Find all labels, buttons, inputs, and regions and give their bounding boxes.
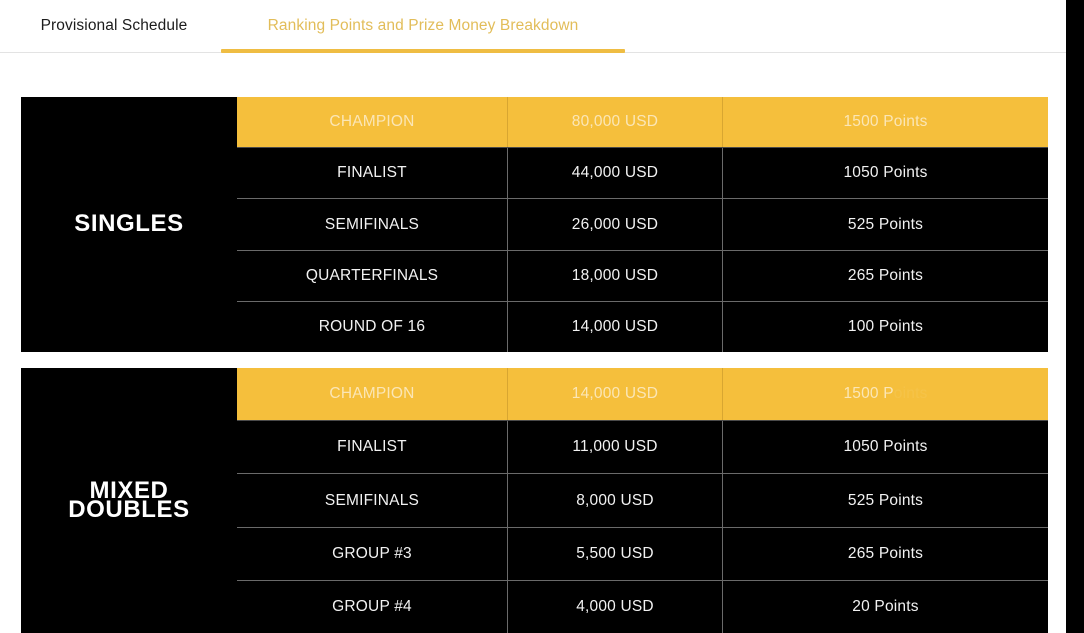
- table-body: SINGLES CHAMPION 80,000 USD 1500 Points …: [21, 97, 1048, 352]
- cell-round: GROUP #4: [237, 581, 507, 633]
- tab-provisional-schedule[interactable]: Provisional Schedule: [10, 0, 218, 52]
- cell-money: 14,000 USD: [507, 368, 722, 420]
- category-cell-mixed-doubles: MIXED DOUBLES: [21, 368, 237, 633]
- table-row[interactable]: CHAMPION 80,000 USD 1500 Points: [237, 97, 1048, 147]
- cell-round: SEMIFINALS: [237, 474, 507, 526]
- cell-points: 1500 Points: [722, 97, 1048, 147]
- cell-round: ROUND OF 16: [237, 302, 507, 352]
- cell-money: 11,000 USD: [507, 421, 722, 473]
- cell-money: 18,000 USD: [507, 251, 722, 301]
- cell-points: 1050 Points: [722, 421, 1048, 473]
- cell-points: 265 Points: [722, 528, 1048, 580]
- prize-table-mixed-doubles: MIXED DOUBLES CHAMPION 14,000 USD 1500 P…: [21, 368, 1048, 633]
- category-label: SINGLES: [74, 215, 184, 234]
- cell-money: 8,000 USD: [507, 474, 722, 526]
- tab-bar: Provisional Schedule Ranking Points and …: [0, 0, 1066, 54]
- category-label: MIXED DOUBLES: [68, 482, 190, 519]
- table-row[interactable]: SEMIFINALS 26,000 USD 525 Points: [237, 198, 1048, 249]
- cell-round: CHAMPION: [237, 368, 507, 420]
- cell-points: 20 Points: [722, 581, 1048, 633]
- table-row[interactable]: GROUP #3 5,500 USD 265 Points: [237, 527, 1048, 580]
- rows-area: CHAMPION 14,000 USD 1500 Points FINALIST…: [237, 368, 1048, 633]
- cell-round: GROUP #3: [237, 528, 507, 580]
- cell-points: 525 Points: [722, 199, 1048, 249]
- tab-ranking-points-and-prize-money-breakdown[interactable]: Ranking Points and Prize Money Breakdown: [221, 0, 625, 52]
- cell-points-head: 1500 P: [843, 385, 893, 403]
- cell-points: 525 Points: [722, 474, 1048, 526]
- cell-points: 100 Points: [722, 302, 1048, 352]
- cell-money: 5,500 USD: [507, 528, 722, 580]
- cell-money: 14,000 USD: [507, 302, 722, 352]
- cell-money: 80,000 USD: [507, 97, 722, 147]
- table-row[interactable]: CHAMPION 14,000 USD 1500 Points: [237, 368, 1048, 420]
- cell-money: 44,000 USD: [507, 148, 722, 198]
- page-root: Provisional Schedule Ranking Points and …: [0, 0, 1066, 633]
- table-row[interactable]: SEMIFINALS 8,000 USD 525 Points: [237, 473, 1048, 526]
- cell-points: 1500 Points: [722, 368, 1048, 420]
- table-row[interactable]: ROUND OF 16 14,000 USD 100 Points: [237, 301, 1048, 352]
- table-row[interactable]: FINALIST 44,000 USD 1050 Points: [237, 147, 1048, 198]
- prize-table-singles: SINGLES CHAMPION 80,000 USD 1500 Points …: [21, 97, 1048, 352]
- cell-points-tail: oints: [894, 385, 928, 403]
- table-row[interactable]: FINALIST 11,000 USD 1050 Points: [237, 420, 1048, 473]
- cell-round: FINALIST: [237, 421, 507, 473]
- table-row[interactable]: GROUP #4 4,000 USD 20 Points: [237, 580, 1048, 633]
- table-gap-spacer: [0, 352, 1066, 368]
- cell-money: 4,000 USD: [507, 581, 722, 633]
- rows-area: CHAMPION 80,000 USD 1500 Points FINALIST…: [237, 97, 1048, 352]
- cell-round: QUARTERFINALS: [237, 251, 507, 301]
- category-cell-singles: SINGLES: [21, 97, 237, 352]
- table-row[interactable]: QUARTERFINALS 18,000 USD 265 Points: [237, 250, 1048, 301]
- cell-money: 26,000 USD: [507, 199, 722, 249]
- cell-points: 265 Points: [722, 251, 1048, 301]
- cell-round: FINALIST: [237, 148, 507, 198]
- cell-points: 1050 Points: [722, 148, 1048, 198]
- cell-round: SEMIFINALS: [237, 199, 507, 249]
- active-tab-underline: [221, 49, 625, 53]
- cell-round: CHAMPION: [237, 97, 507, 147]
- table-body: MIXED DOUBLES CHAMPION 14,000 USD 1500 P…: [21, 368, 1048, 633]
- right-edge-band: [1066, 0, 1084, 633]
